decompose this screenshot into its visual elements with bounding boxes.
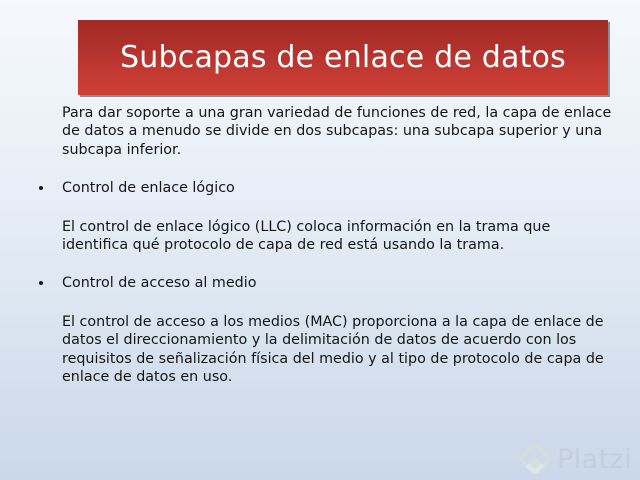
slide-body: Para dar soporte a una gran variedad de …	[0, 104, 640, 386]
page-title: Subcapas de enlace de datos	[120, 41, 566, 74]
bullet-dot-icon	[39, 281, 43, 285]
spacer	[0, 159, 640, 179]
slide-canvas: Subcapas de enlace de datos Para dar sop…	[0, 0, 640, 480]
intro-paragraph: Para dar soporte a una gran variedad de …	[62, 104, 612, 159]
bullet-label-llc: Control de enlace lógico	[62, 180, 235, 196]
bullet-item-llc: Control de enlace lógico	[38, 179, 612, 197]
bullet-description-mac: El control de acceso a los medios (MAC) …	[62, 313, 612, 387]
bullet-description-llc: El control de enlace lógico (LLC) coloca…	[62, 218, 612, 255]
bullet-dot-icon	[39, 186, 43, 190]
platzi-watermark: Platzi	[520, 444, 632, 474]
bullet-item-mac: Control de acceso al medio	[38, 274, 612, 292]
spacer	[0, 293, 640, 313]
spacer	[0, 198, 640, 218]
spacer	[0, 254, 640, 274]
bullet-label-mac: Control de acceso al medio	[62, 275, 256, 291]
platzi-wordmark: Platzi	[557, 446, 632, 473]
platzi-diamond-logo-icon	[520, 444, 550, 474]
slide-title-banner: Subcapas de enlace de datos	[78, 20, 608, 95]
